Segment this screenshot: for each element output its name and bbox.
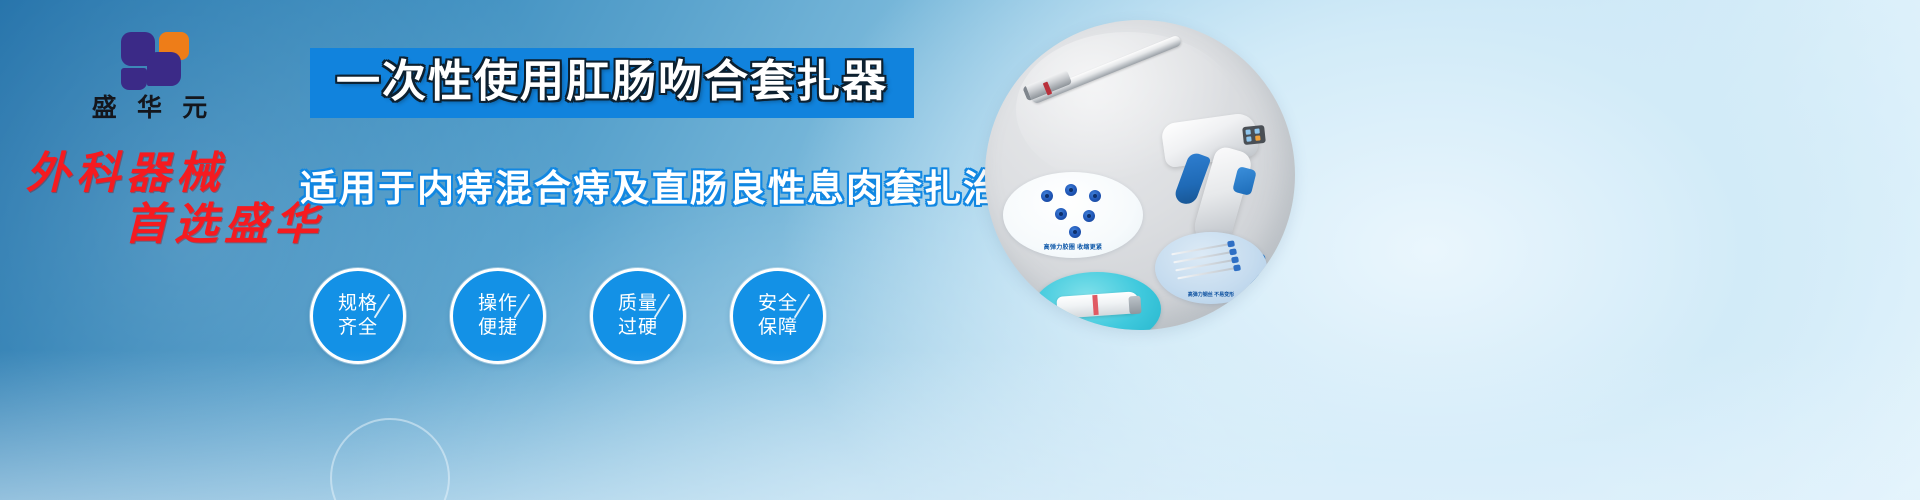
sparkle-icon-2 [820,78,830,80]
logo-square-bottom-left [121,68,147,90]
feature-badge-3[interactable]: 质量 过硬 [590,268,686,364]
sparkle-icon-3 [848,62,850,68]
feature-badge-1-line2: 齐全 [338,316,378,340]
feature-badge-3-line1: 质量 [618,292,658,316]
feature-badge-4-line2: 保障 [758,316,798,340]
device-shaft [1030,34,1182,104]
cylinder-cap [1128,296,1141,315]
rubber-bands-inset: 高弹力胶圈 收缩更紧 [1003,172,1143,258]
page-title: 一次性使用肛肠吻合套扎器 [336,58,888,106]
rubber-band-icon [1055,208,1067,220]
feature-badge-4-line1: 安全 [758,292,798,316]
needles-inset: 高弹力钢丝 不易变形 [1155,232,1267,304]
rubber-band-icon [1069,226,1081,238]
feature-badge-3-line2: 过硬 [618,316,658,340]
headline-highlight-bar: 一次性使用肛肠吻合套扎器 [310,48,914,118]
needles-caption: 高弹力钢丝 不易变形 [1155,291,1267,298]
page-subtitle: 适用于内痔混合痔及直肠良性息肉套扎治疗 [300,158,1041,212]
headline-block: 一次性使用肛肠吻合套扎器 [310,48,914,118]
device-control-panel [1242,125,1266,145]
feature-badge-list: 规格 齐全 操作 便捷 质量 过硬 安全 保障 [310,268,826,364]
decorative-ring [330,418,450,500]
rubber-band-icon [1083,210,1095,222]
rubber-bands-caption: 高弹力胶圈 收缩更紧 [1003,242,1143,251]
rubber-band-icon [1065,184,1077,196]
sparkle-icon-1 [789,66,796,68]
rubber-band-icon [1089,190,1101,202]
feature-badge-1[interactable]: 规格 齐全 [310,268,406,364]
promo-banner: 盛 华 元 外科器械 首选盛华 一次性使用肛肠吻合套扎器 适用于内痔混合痔及直肠… [0,0,1920,500]
bottom-fade-overlay [0,350,1920,500]
feature-badge-2[interactable]: 操作 便捷 [450,268,546,364]
logo-mark-icon [107,28,193,90]
product-photo: 高弹力胶圈 收缩更紧 高弹力钢丝 不易变形 [985,20,1295,330]
feature-badge-1-line1: 规格 [338,292,378,316]
feature-badge-2-line2: 便捷 [478,316,518,340]
logo-square-bottom-right [147,52,181,86]
brand-name: 盛 华 元 [62,96,237,121]
feature-badge-2-line1: 操作 [478,292,518,316]
brand-logo[interactable]: 盛 华 元 [62,28,237,121]
feature-badge-4[interactable]: 安全 保障 [730,268,826,364]
rubber-band-icon [1041,190,1053,202]
